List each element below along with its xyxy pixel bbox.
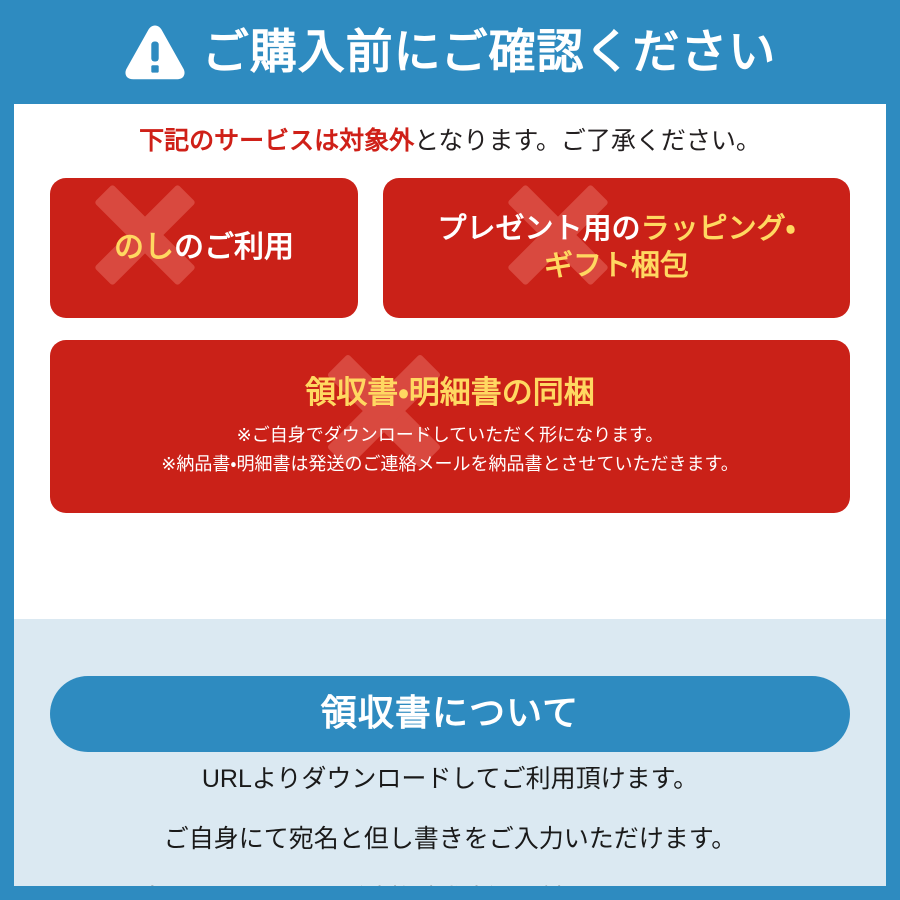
exclusion-boxes-row: のしのご利用 プレゼント用のラッピング・ ギフト梱包 (50, 178, 850, 318)
exclusions-section: 下記のサービスは対象外となります。ご了承ください。 のしのご利用 (14, 104, 886, 619)
warning-triangle-icon (124, 23, 186, 81)
receipt-body-line: URLよりダウンロードしてご利用頂けます。 (14, 767, 886, 792)
exclusion-card-wrapping: プレゼント用のラッピング・ ギフト梱包 (383, 178, 850, 318)
receipt-section-heading-label: 領収書について (321, 695, 579, 731)
purchase-notice-banner: ご購入前にご確認ください 下記のサービスは対象外となります。ご了承ください。 の… (0, 0, 900, 900)
exclusion-card-wrapping-label: プレゼント用のラッピング・ ギフト梱包 (438, 211, 796, 284)
exclusion-card-receipt-enclosure: 領収書・明細書の同梱 ※ご自身でダウンロードしていただく形になります。 ※納品書… (50, 340, 850, 513)
exclusion-card-noshi: のしのご利用 (50, 178, 358, 318)
subheading-rest: となります。ご了承ください。 (414, 127, 761, 155)
noshi-suffix: のご利用 (174, 231, 294, 264)
receipt-section: 当店の領収書は発送のご案内のメールに記載しています。 URLよりダウンロードして… (14, 619, 886, 886)
receipt-body-line: ご自身にて宛名と但し書きをご入力いただけます。 (14, 827, 886, 852)
exclusion-card-noshi-label: のしのご利用 (114, 229, 294, 267)
page-title: ご購入前にご確認ください (202, 28, 776, 75)
wrapping-prefix: プレゼント用の (438, 213, 641, 245)
exclusions-subheading: 下記のサービスは対象外となります。ご了承ください。 (50, 104, 850, 156)
wrapping-keyword-1: ラッピング・ (641, 213, 796, 245)
exclusion-card-receipt-note-1: ※ご自身でダウンロードしていただく形になります。 (237, 422, 664, 449)
banner-header: ご購入前にご確認ください (0, 0, 900, 104)
subheading-emphasis: 下記のサービスは対象外 (139, 127, 414, 155)
wrapping-keyword-2: ギフト梱包 (544, 250, 689, 282)
receipt-section-heading: 領収書について (50, 676, 850, 752)
content-panel: 下記のサービスは対象外となります。ご了承ください。 のしのご利用 (14, 104, 886, 886)
exclusion-card-receipt-title: 領収書・明細書の同梱 (305, 374, 595, 413)
noshi-keyword: のし (114, 231, 174, 264)
exclusion-card-receipt-note-2: ※納品書・明細書は発送のご連絡メールを納品書とさせていただきます。 (161, 451, 738, 478)
